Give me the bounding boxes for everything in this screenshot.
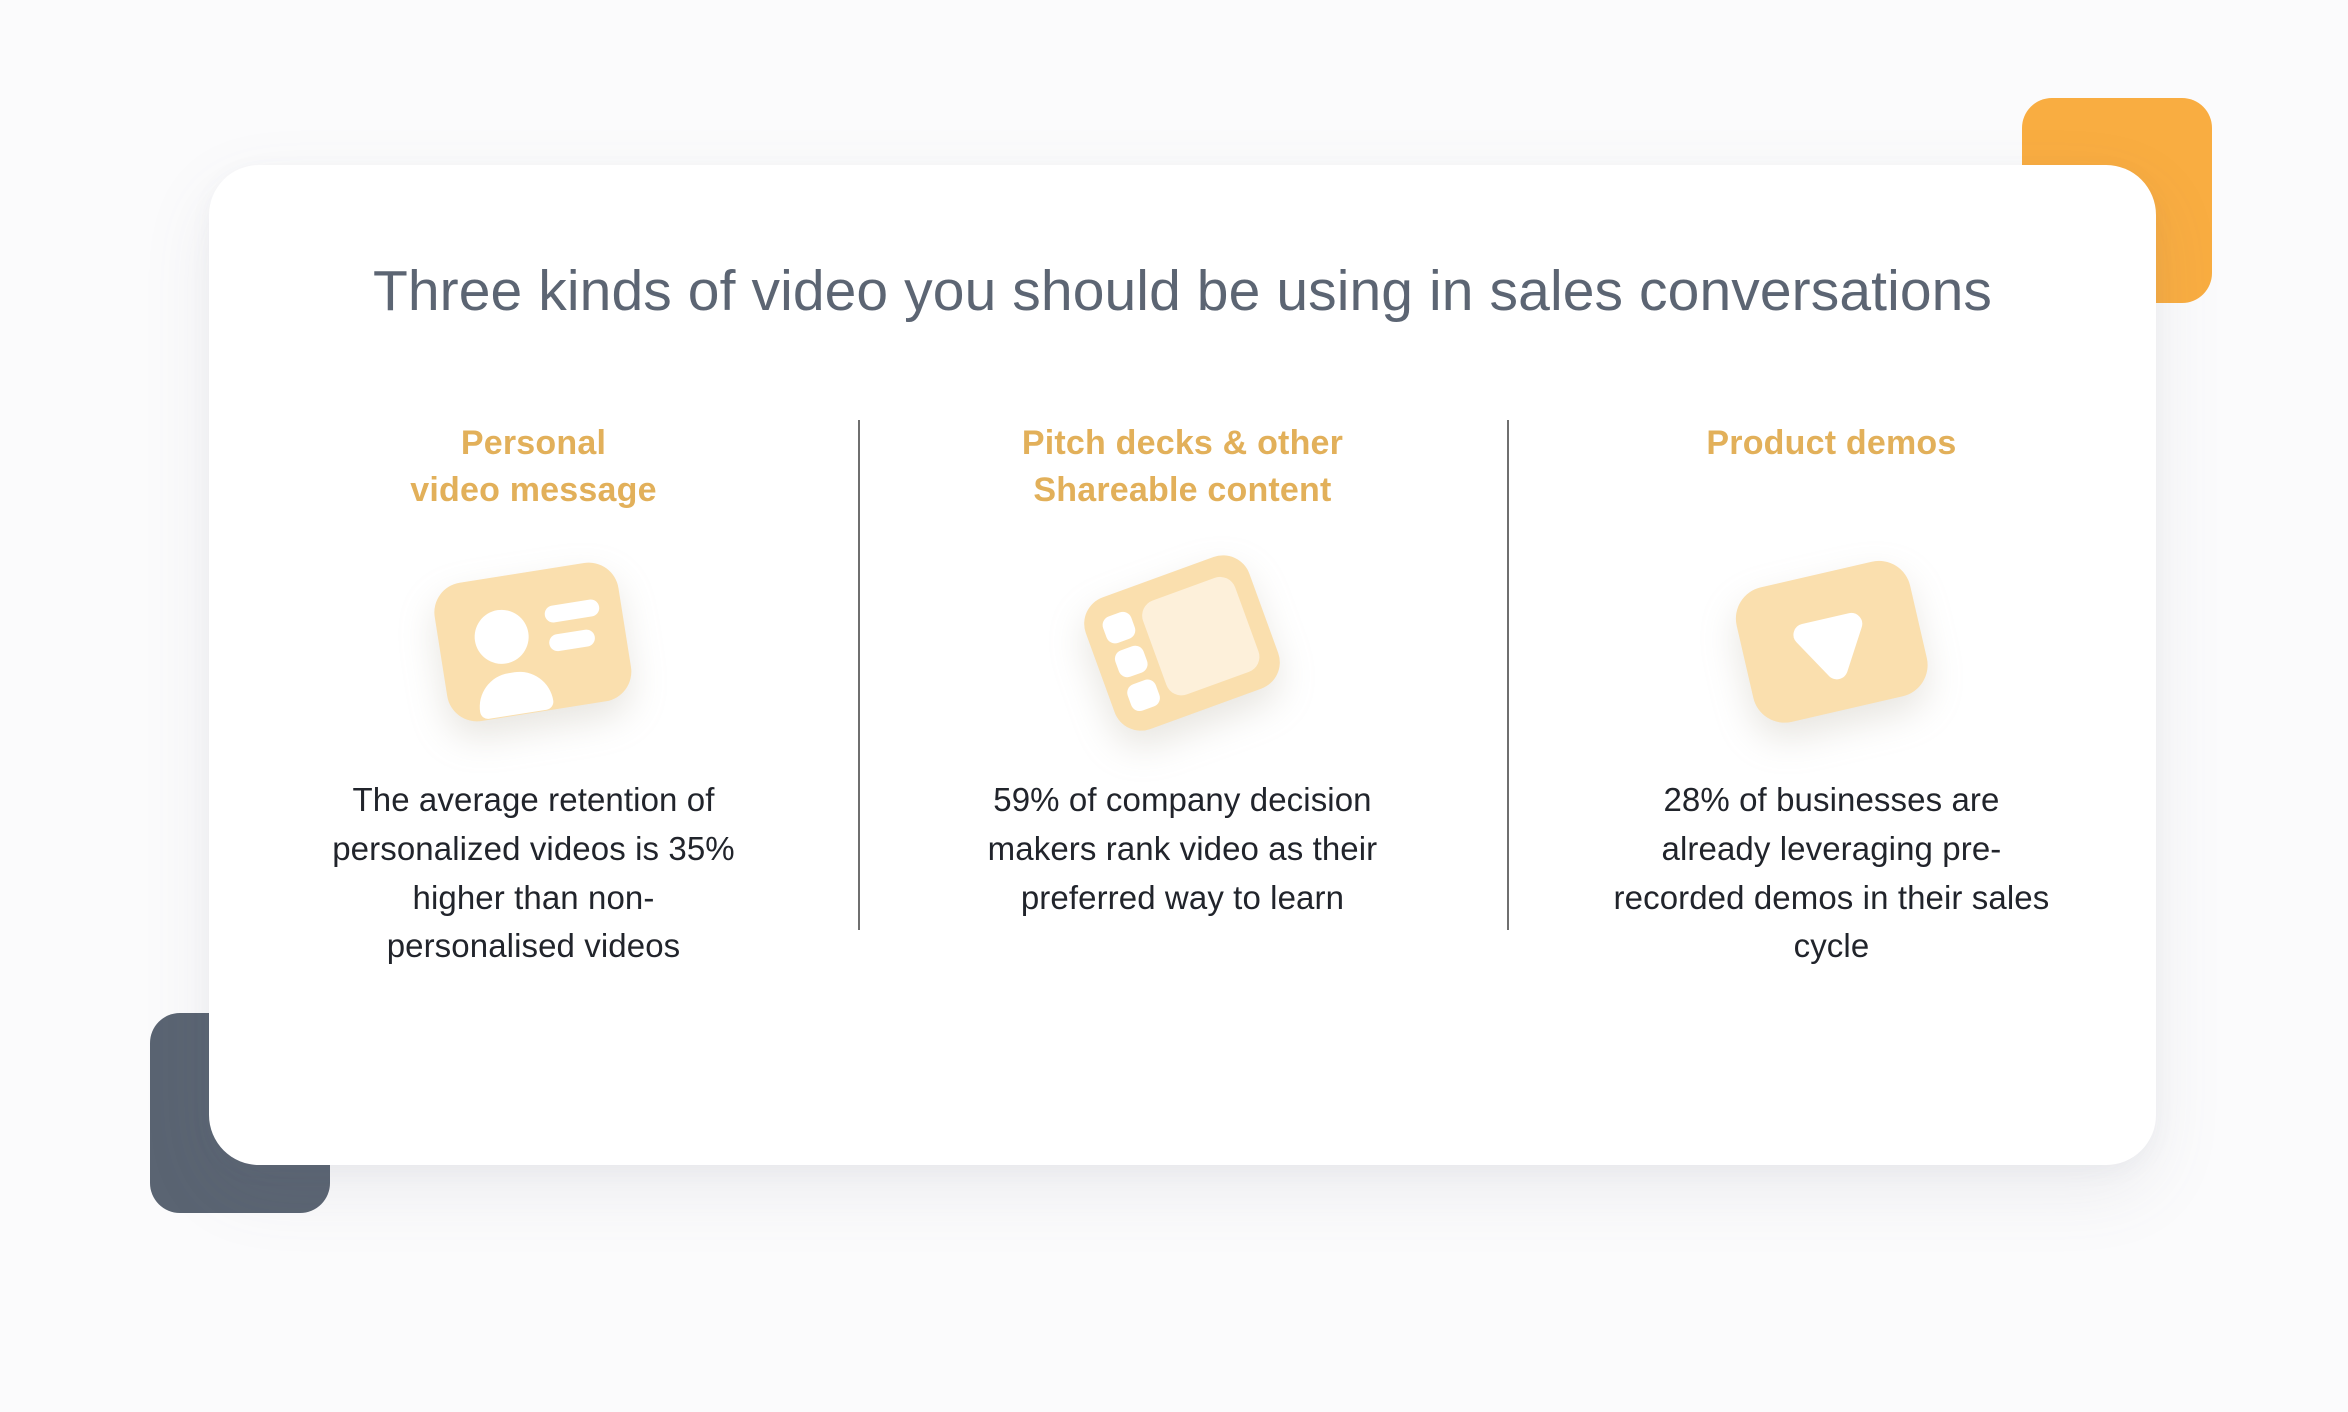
column-personal-video-message: Personal video message The avera [209,420,858,971]
video-message-card-icon [418,548,648,738]
infographic-stage: Three kinds of video you should be using… [0,0,2348,1412]
columns-container: Personal video message The avera [209,420,2156,971]
play-button-card-icon [1719,551,1944,736]
icon-container [898,528,1467,758]
column-heading: Product demos [1547,420,2116,516]
page-title: Three kinds of video you should be using… [209,259,2156,325]
icon-container [249,528,818,758]
column-body-text: 59% of company decision makers rank vide… [972,776,1392,922]
column-heading: Pitch decks & other Shareable content [898,420,1467,516]
content-card: Three kinds of video you should be using… [209,165,2156,1165]
column-heading-line1: Product demos [1706,424,1956,462]
icon-container [1547,528,2116,758]
column-product-demos: Product demos 28% of businesses are alre… [1507,420,2156,971]
column-body-text: 28% of businesses are already leveraging… [1611,776,2051,971]
column-heading: Personal video message [249,420,818,516]
column-heading-line2: Shareable content [1033,471,1331,509]
column-pitch-decks: Pitch decks & other Shareable content [858,420,1507,922]
pitch-deck-slides-icon [1067,546,1297,741]
column-heading-line2: video message [410,471,656,509]
column-heading-line1: Personal [461,424,606,462]
column-body-text: The average retention of personalized vi… [318,776,748,971]
column-heading-line1: Pitch decks & other [1022,424,1343,462]
